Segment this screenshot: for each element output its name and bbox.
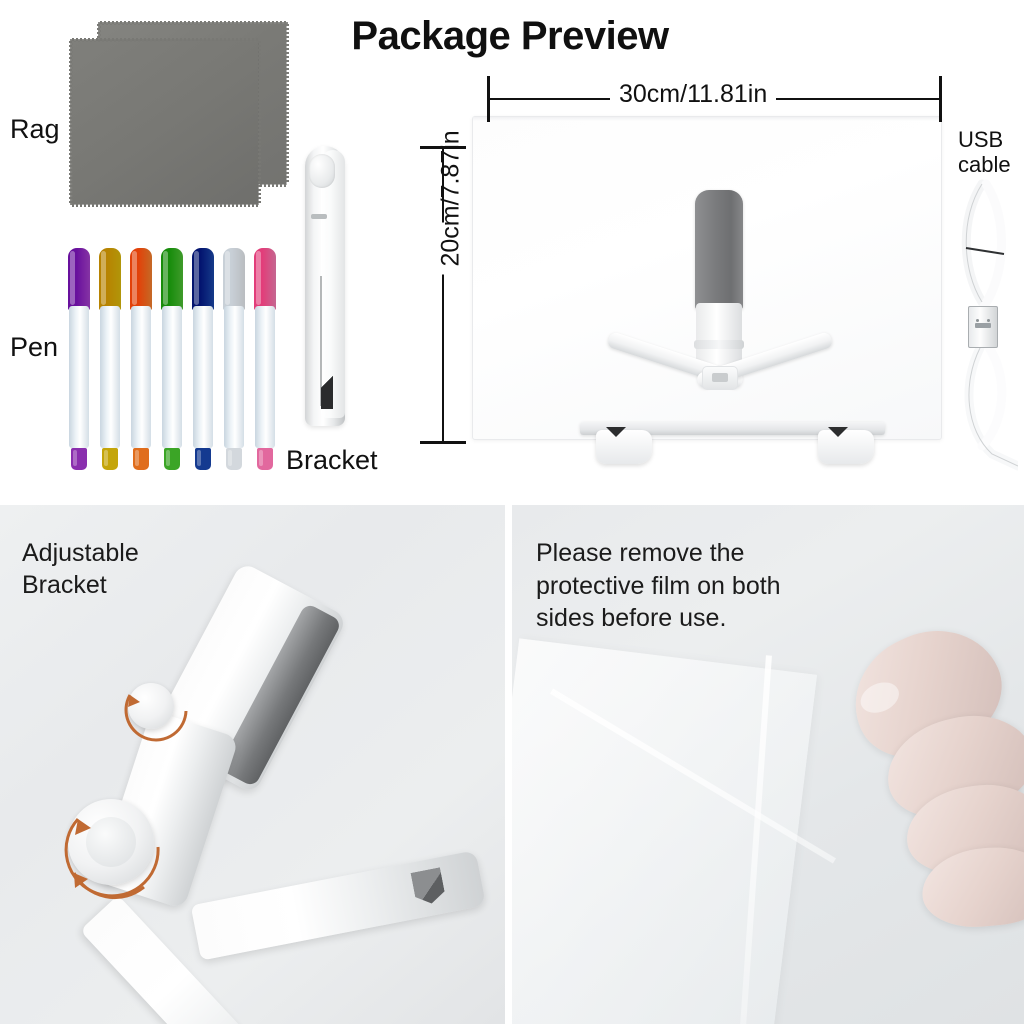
usb-cable-label-line1: USB	[958, 128, 1011, 153]
adjustable-bracket-caption: Adjustable Bracket	[22, 537, 139, 601]
bracket-right-leg	[191, 850, 486, 960]
pen-barrel	[255, 306, 275, 448]
pen-white	[223, 248, 245, 470]
usb-cable-label-line2: cable	[958, 153, 1011, 178]
usb-cable-label: USB cable	[958, 128, 1011, 177]
pen-cap	[99, 248, 121, 310]
folded-bracket	[299, 146, 355, 426]
pen-yellow	[99, 248, 121, 470]
pen-tip	[257, 448, 273, 470]
pen-cap	[254, 248, 276, 310]
cloth-front	[72, 41, 258, 204]
hand-peeling-film	[794, 600, 1024, 930]
pen-barrel	[224, 306, 244, 448]
caption-line-1: Please remove the	[536, 537, 856, 570]
pen-barrel	[131, 306, 151, 448]
pen-cap	[223, 248, 245, 310]
pen-cap	[192, 248, 214, 310]
pen-tip	[195, 448, 211, 470]
package-preview-image: Package Preview Rag Pen Bracket	[0, 0, 1024, 1024]
board-stand	[640, 190, 900, 480]
pen-barrel	[162, 306, 182, 448]
bracket-label: Bracket	[286, 445, 378, 476]
pen-barrel	[100, 306, 120, 448]
page-title: Package Preview	[300, 14, 720, 58]
caption-line-3: sides before use.	[536, 602, 856, 635]
pen-set	[68, 248, 288, 470]
pen-tip	[164, 448, 180, 470]
top-panel: Package Preview Rag Pen Bracket	[0, 0, 1024, 500]
bracket-hinge-upper	[128, 683, 174, 729]
bottom-panels: Adjustable Bracket Please remove the pro…	[0, 505, 1024, 1024]
pen-barrel	[193, 306, 213, 448]
rag-label: Rag	[10, 114, 60, 145]
caption-line-2: Bracket	[22, 569, 139, 601]
pen-label: Pen	[10, 332, 58, 363]
pen-green	[161, 248, 183, 470]
dimension-label-height: 20cm/7.87in	[433, 223, 470, 275]
bracket-hinge-lower	[68, 799, 154, 885]
pen-purple	[68, 248, 90, 470]
pen-tip	[133, 448, 149, 470]
stand-neck-grey	[695, 190, 743, 310]
caption-line-1: Adjustable	[22, 537, 139, 569]
pen-cap	[68, 248, 90, 310]
pen-tip	[226, 448, 242, 470]
caption-line-2: protective film on both	[536, 570, 856, 603]
pen-tip	[102, 448, 118, 470]
pen-barrel	[69, 306, 89, 448]
usb-connector	[968, 306, 998, 348]
pen-pink	[254, 248, 276, 470]
adjustable-bracket-panel: Adjustable Bracket	[0, 505, 505, 1024]
dimension-label-width: 30cm/11.81in	[610, 80, 776, 109]
pen-cap	[161, 248, 183, 310]
usb-cable	[952, 178, 1018, 478]
stand-neck-white	[696, 303, 742, 365]
pen-cap	[130, 248, 152, 310]
protective-film-caption: Please remove the protective film on bot…	[536, 537, 856, 635]
pen-tip	[71, 448, 87, 470]
panel-divider	[505, 505, 512, 1024]
pen-orange	[130, 248, 152, 470]
pen-blue	[192, 248, 214, 470]
rag-cloths	[72, 24, 292, 214]
protective-film-panel: Please remove the protective film on bot…	[512, 505, 1024, 1024]
